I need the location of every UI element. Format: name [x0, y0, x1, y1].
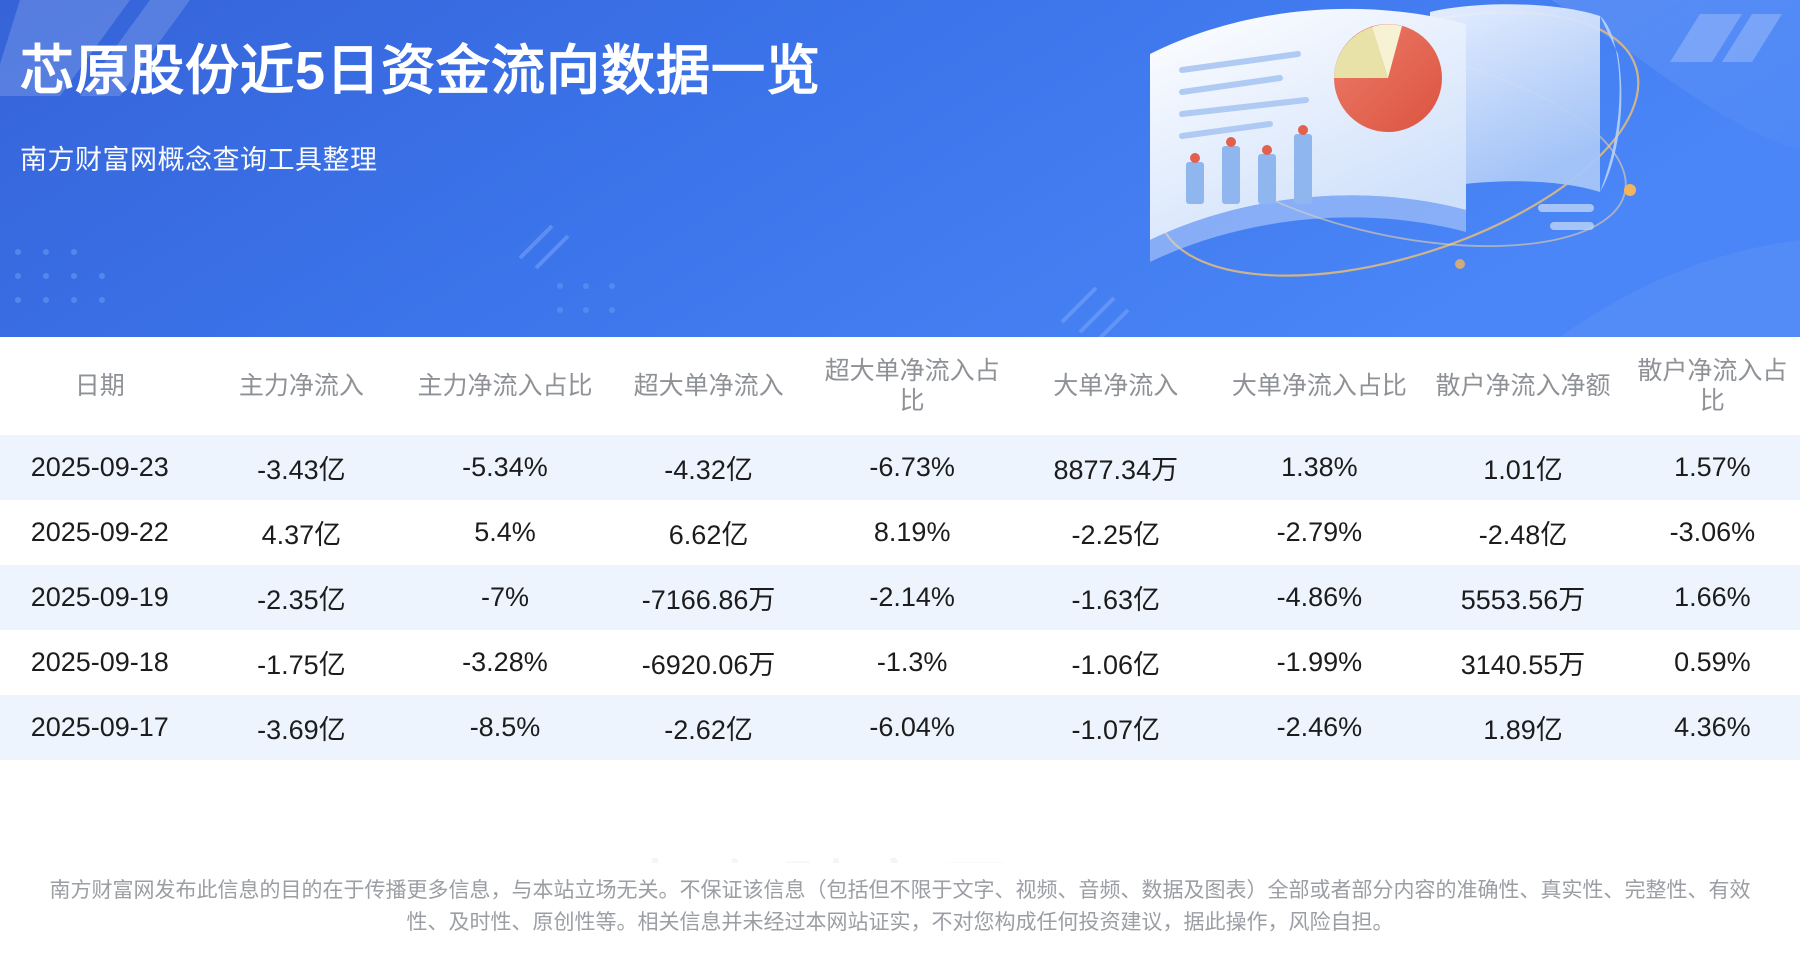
cell-lg-net: -2.25亿: [1014, 500, 1218, 565]
table-row: 2025-09-17 -3.69亿 -8.5% -2.62亿 -6.04% -1…: [0, 695, 1800, 760]
cell-xl-pct: -6.04%: [810, 695, 1014, 760]
hero-banner: 芯原股份近5日资金流向数据一览 南方财富网概念查询工具整理: [0, 0, 1800, 337]
cell-xl-pct: -1.3%: [810, 630, 1014, 695]
cell-retail-net: 3140.55万: [1421, 630, 1625, 695]
cell-xl-net: -2.62亿: [607, 695, 811, 760]
col-header-xl-pct: 超大单净流入占比: [810, 337, 1014, 435]
cell-main-pct: -8.5%: [403, 695, 607, 760]
cell-lg-pct: -4.86%: [1218, 565, 1422, 630]
table-header-row: 日期 主力净流入 主力净流入占比 超大单净流入 超大单净流入占比 大单净流入 大…: [0, 337, 1800, 435]
cell-main-net: 4.37亿: [200, 500, 404, 565]
cell-lg-pct: -1.99%: [1218, 630, 1422, 695]
cell-date: 2025-09-18: [0, 630, 200, 695]
page-subtitle: 南方财富网概念查询工具整理: [20, 138, 821, 177]
cell-retail-pct: 1.57%: [1625, 435, 1800, 500]
cell-date: 2025-09-19: [0, 565, 200, 630]
col-header-retail-net: 散户净流入净额: [1421, 337, 1625, 435]
cell-xl-net: -7166.86万: [607, 565, 811, 630]
cell-main-net: -3.69亿: [200, 695, 404, 760]
cell-main-pct: -3.28%: [403, 630, 607, 695]
cell-xl-pct: -6.73%: [810, 435, 1014, 500]
cell-lg-net: -1.06亿: [1014, 630, 1218, 695]
col-header-main-net: 主力净流入: [200, 337, 404, 435]
fund-flow-table-container: 南方财富网 Southmoney.com 日期 主力净流入 主力净流入占比 超大…: [0, 337, 1800, 760]
fund-flow-table: 日期 主力净流入 主力净流入占比 超大单净流入 超大单净流入占比 大单净流入 大…: [0, 337, 1800, 760]
cell-main-net: -2.35亿: [200, 565, 404, 630]
disclaimer-line-2: 性、及时性、原创性等。相关信息并未经过本网站证实，不对您构成任何投资建议，据此操…: [14, 907, 1786, 939]
cell-lg-net: 8877.34万: [1014, 435, 1218, 500]
page-root: 芯原股份近5日资金流向数据一览 南方财富网概念查询工具整理: [0, 0, 1800, 954]
table-body: 2025-09-23 -3.43亿 -5.34% -4.32亿 -6.73% 8…: [0, 435, 1800, 760]
table-row: 2025-09-23 -3.43亿 -5.34% -4.32亿 -6.73% 8…: [0, 435, 1800, 500]
disclaimer-footer: 南方财富网发布此信息的目的在于传播更多信息，与本站立场无关。不保证该信息（包括但…: [0, 863, 1800, 954]
cell-xl-pct: -2.14%: [810, 565, 1014, 630]
cell-date: 2025-09-23: [0, 435, 200, 500]
cell-retail-net: -2.48亿: [1421, 500, 1625, 565]
cell-retail-pct: -3.06%: [1625, 500, 1800, 565]
cell-lg-pct: -2.46%: [1218, 695, 1422, 760]
cell-retail-net: 5553.56万: [1421, 565, 1625, 630]
col-header-main-pct: 主力净流入占比: [403, 337, 607, 435]
cell-lg-pct: -2.79%: [1218, 500, 1422, 565]
table-head: 日期 主力净流入 主力净流入占比 超大单净流入 超大单净流入占比 大单净流入 大…: [0, 337, 1800, 435]
page-title: 芯原股份近5日资金流向数据一览: [20, 40, 821, 104]
col-header-lg-pct: 大单净流入占比: [1218, 337, 1422, 435]
col-header-xl-net: 超大单净流入: [607, 337, 811, 435]
cell-main-pct: -7%: [403, 565, 607, 630]
disclaimer-line-1: 南方财富网发布此信息的目的在于传播更多信息，与本站立场无关。不保证该信息（包括但…: [14, 875, 1786, 907]
col-header-retail-pct: 散户净流入占比: [1625, 337, 1800, 435]
table-row: 2025-09-22 4.37亿 5.4% 6.62亿 8.19% -2.25亿…: [0, 500, 1800, 565]
cell-retail-net: 1.89亿: [1421, 695, 1625, 760]
cell-xl-net: -6920.06万: [607, 630, 811, 695]
cell-main-net: -3.43亿: [200, 435, 404, 500]
financial-report-illustration: [1130, 0, 1650, 294]
cell-date: 2025-09-17: [0, 695, 200, 760]
cell-lg-net: -1.07亿: [1014, 695, 1218, 760]
cell-xl-net: -4.32亿: [607, 435, 811, 500]
cell-xl-net: 6.62亿: [607, 500, 811, 565]
col-header-date: 日期: [0, 337, 200, 435]
col-header-lg-net: 大单净流入: [1014, 337, 1218, 435]
cell-retail-pct: 4.36%: [1625, 695, 1800, 760]
cell-retail-pct: 1.66%: [1625, 565, 1800, 630]
cell-main-pct: -5.34%: [403, 435, 607, 500]
cell-xl-pct: 8.19%: [810, 500, 1014, 565]
cell-main-pct: 5.4%: [403, 500, 607, 565]
cell-retail-pct: 0.59%: [1625, 630, 1800, 695]
table-row: 2025-09-18 -1.75亿 -3.28% -6920.06万 -1.3%…: [0, 630, 1800, 695]
cell-retail-net: 1.01亿: [1421, 435, 1625, 500]
table-row: 2025-09-19 -2.35亿 -7% -7166.86万 -2.14% -…: [0, 565, 1800, 630]
cell-lg-net: -1.63亿: [1014, 565, 1218, 630]
cell-main-net: -1.75亿: [200, 630, 404, 695]
hero-text-block: 芯原股份近5日资金流向数据一览 南方财富网概念查询工具整理: [20, 40, 821, 177]
cell-lg-pct: 1.38%: [1218, 435, 1422, 500]
cell-date: 2025-09-22: [0, 500, 200, 565]
